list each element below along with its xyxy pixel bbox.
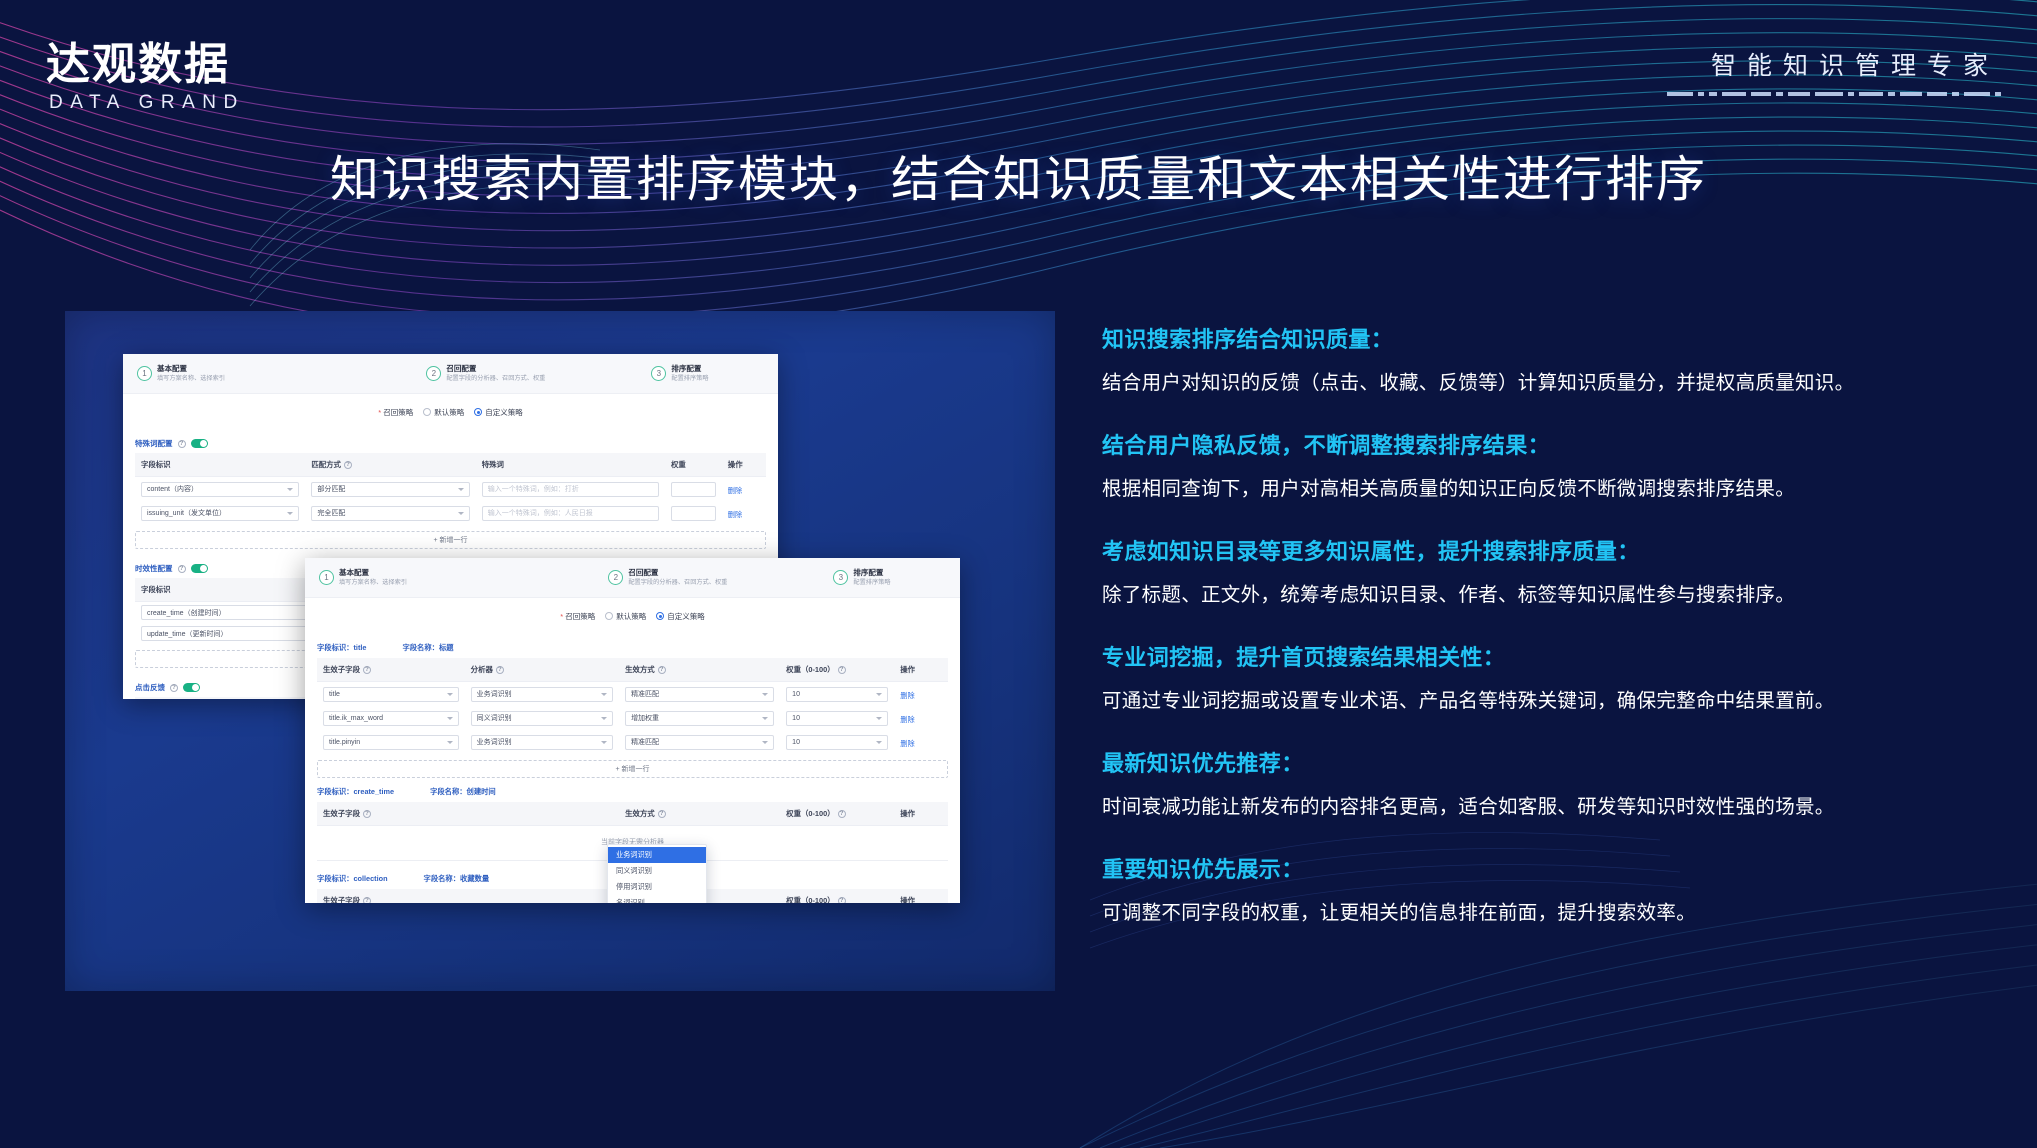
table-header-row: 字段标识 匹配方式? 特殊词 权重 操作 (135, 453, 766, 477)
delete-row-link[interactable]: 删除 (900, 739, 914, 748)
col-effect-mode: 生效方式? (619, 802, 780, 826)
match-mode-select[interactable]: 部分匹配 (311, 482, 469, 497)
delete-row-link[interactable]: 删除 (728, 510, 742, 519)
recall-strategy-row: *召回策略 默认策略 自定义策略 (305, 598, 960, 634)
bullet-body: 结合用户对知识的反馈（点击、收藏、反馈等）计算知识质量分，并提权高质量知识。 (1102, 366, 1982, 395)
step-number-icon: 3 (833, 570, 848, 585)
step-number-icon: 3 (651, 366, 666, 381)
step-subtitle: 配置排序策略 (853, 579, 890, 587)
bullet-title: 考虑如知识目录等更多知识属性，提升搜索排序质量： (1102, 534, 1982, 566)
col-match-mode: 匹配方式? (305, 453, 475, 477)
col-special-word: 特殊词 (476, 453, 665, 477)
front-screenshot-panel: 1 基本配置 填写方案名称、选择索引 2 召回配置 配置字段的分析器、召回方式、… (305, 558, 960, 903)
analyzer-table-title: 生效子字段? 分析器? 生效方式? 权重（0-100）? 操作 title 业务… (317, 658, 948, 754)
dropdown-option[interactable]: 停用词识别 (608, 879, 706, 895)
step-title: 排序配置 (853, 568, 890, 577)
front-steps-bar: 1 基本配置 填写方案名称、选择索引 2 召回配置 配置字段的分析器、召回方式、… (305, 558, 960, 598)
step-item-2[interactable]: 2 召回配置 配置字段的分析器、召回方式、权重 (418, 364, 643, 382)
col-weight: 权重 (665, 453, 722, 477)
col-effect-mode: 生效方式? (619, 658, 780, 682)
help-icon[interactable]: ? (363, 897, 371, 904)
help-icon[interactable]: ? (658, 810, 666, 818)
help-icon[interactable]: ? (838, 810, 846, 818)
section-title: 特殊词配置 (135, 438, 173, 449)
step-subtitle: 配置字段的分析器、召回方式、权重 (446, 375, 545, 383)
table-row: content（内容） 部分匹配 输入一个特殊词，例如：打折 删除 (135, 477, 766, 502)
step-title: 召回配置 (446, 364, 545, 373)
field-name-label: 字段名称： (424, 874, 460, 883)
weight-input[interactable] (671, 482, 716, 497)
step-title: 排序配置 (671, 364, 708, 373)
special-word-input[interactable]: 输入一个特殊词，例如：人民日报 (482, 506, 659, 521)
logo-chinese-name: 达观数据 (46, 42, 245, 88)
bullet-body: 除了标题、正文外，统筹考虑知识目录、作者、标签等知识属性参与搜索排序。 (1102, 578, 1982, 607)
special-word-table: 字段标识 匹配方式? 特殊词 权重 操作 content（内容） 部分匹配 输入… (135, 453, 766, 525)
field-id-label: 字段标识： (317, 874, 353, 883)
field-name-value: 标题 (439, 643, 454, 652)
analyzer-dropdown-menu[interactable]: 业务词识别 同义词识别 停用词识别 名词识别 人名识别 人称号识别 文号识别 范… (607, 844, 707, 903)
step-subtitle: 配置字段的分析器、召回方式、权重 (628, 579, 727, 587)
slogan-underline-decoration (1667, 92, 2001, 97)
help-icon[interactable]: ? (344, 461, 352, 469)
table-row: title.ik_max_word 同义词识别 增加权重 10 删除 (317, 706, 948, 730)
weight-input[interactable] (671, 506, 716, 521)
step-title: 召回配置 (628, 568, 727, 577)
subfield-select[interactable]: title.pinyin (323, 735, 459, 750)
help-icon[interactable]: ? (178, 565, 186, 573)
field-id-value: title (353, 643, 366, 652)
dropdown-option[interactable]: 名词识别 (608, 895, 706, 903)
subfield-select[interactable]: title.ik_max_word (323, 711, 459, 726)
analyzer-select[interactable]: 业务词识别 (471, 687, 613, 702)
special-word-section-header: 特殊词配置 ? (123, 430, 778, 453)
screenshot-stage: 1 基本配置 填写方案名称、选择索引 2 召回配置 配置字段的分析器、召回方式、… (65, 311, 1055, 991)
table-row: title 业务词识别 精准匹配 10 删除 (317, 682, 948, 707)
bullet-block: 专业词挖掘，提升首页搜索结果相关性： 可通过专业词挖掘或设置专业术语、产品名等特… (1102, 640, 1982, 713)
recall-strategy-row: *召回策略 默认策略 自定义策略 (123, 394, 778, 430)
col-weight: 权重（0-100）? (780, 802, 894, 826)
help-icon[interactable]: ? (170, 684, 178, 692)
dropdown-option[interactable]: 同义词识别 (608, 863, 706, 879)
step-number-icon: 2 (608, 570, 623, 585)
radio-label: 默认策略 (616, 611, 646, 622)
radio-icon-selected (474, 408, 482, 416)
bullet-title: 知识搜索排序结合知识质量： (1102, 322, 1982, 354)
step-number-icon: 1 (137, 366, 152, 381)
step-item-1[interactable]: 1 基本配置 填写方案名称、选择索引 (129, 364, 418, 382)
delete-row-link[interactable]: 删除 (728, 486, 742, 495)
step-subtitle: 配置排序策略 (671, 375, 708, 383)
logo-english-name: DATA GRAND (46, 92, 245, 114)
field-id-label: 字段标识： (317, 643, 353, 652)
recall-strategy-label: *召回策略 (378, 407, 413, 418)
col-analyzer (465, 802, 619, 826)
table-header-row: 生效子字段? 分析器? 生效方式? 权重（0-100）? 操作 (317, 658, 948, 682)
effect-mode-select[interactable]: 精准匹配 (625, 687, 774, 702)
radio-icon (423, 408, 431, 416)
col-analyzer (465, 889, 619, 903)
bullet-block: 最新知识优先推荐： 时间衰减功能让新发布的内容排名更高，适合如客服、研发等知识时… (1102, 746, 1982, 819)
field-name-label: 字段名称： (430, 787, 466, 796)
col-subfield: 生效子字段? (317, 658, 465, 682)
step-item-3[interactable]: 3 排序配置 配置排序策略 (643, 364, 772, 382)
step-subtitle: 填写方案名称、选择索引 (157, 375, 225, 383)
field-id-value: create_time (353, 787, 394, 796)
field-name-value: 收藏数量 (460, 874, 489, 883)
analyzer-table-create-time: 生效子字段? 生效方式? 权重（0-100）? 操作 (317, 802, 948, 826)
back-steps-bar: 1 基本配置 填写方案名称、选择索引 2 召回配置 配置字段的分析器、召回方式、… (123, 354, 778, 394)
field-group-header-create-time: 字段标识：create_time 字段名称：创建时间 (305, 778, 960, 802)
step-item-1[interactable]: 1 基本配置 填写方案名称、选择索引 (311, 568, 600, 586)
brand-logo: 达观数据 DATA GRAND (46, 42, 245, 114)
add-row-button[interactable]: + 新增一行 (317, 760, 948, 778)
radio-custom-strategy[interactable]: 自定义策略 (474, 407, 523, 418)
field-id-value: collection (353, 874, 387, 883)
recall-strategy-label: *召回策略 (560, 611, 595, 622)
help-icon[interactable]: ? (363, 810, 371, 818)
effect-mode-select[interactable]: 精准匹配 (625, 735, 774, 750)
radio-default-strategy[interactable]: 默认策略 (423, 407, 464, 418)
table-header-row: 生效子字段? 生效方式? 权重（0-100）? 操作 (317, 802, 948, 826)
step-item-3[interactable]: 3 排序配置 配置排序策略 (825, 568, 954, 586)
special-word-input[interactable]: 输入一个特殊词，例如：打折 (482, 482, 659, 497)
help-icon[interactable]: ? (838, 897, 846, 904)
weight-select[interactable]: 10 (786, 687, 888, 702)
delete-row-link[interactable]: 删除 (900, 691, 914, 700)
radio-icon-selected (656, 612, 664, 620)
section-title: 时效性配置 (135, 563, 173, 574)
help-icon[interactable]: ? (658, 666, 666, 674)
radio-label: 自定义策略 (485, 407, 523, 418)
col-weight: 权重（0-100）? (780, 658, 894, 682)
col-weight: 权重（0-100）? (780, 889, 894, 903)
field-name-value: 创建时间 (467, 787, 496, 796)
section-title: 点击反馈 (135, 682, 165, 693)
dropdown-option[interactable]: 业务词识别 (608, 847, 706, 863)
field-name-label: 字段名称： (402, 643, 438, 652)
radio-icon (605, 612, 613, 620)
field-id-select[interactable]: create_time（创建时间） (141, 605, 331, 620)
section-toggle-switch[interactable] (183, 683, 200, 692)
bullet-body: 时间衰减功能让新发布的内容排名更高，适合如客服、研发等知识时效性强的场景。 (1102, 790, 1982, 819)
field-group-header-title: 字段标识：title 字段名称：标题 (305, 634, 960, 658)
col-analyzer: 分析器? (465, 658, 619, 682)
feature-bullet-list: 知识搜索排序结合知识质量： 结合用户对知识的反馈（点击、收藏、反馈等）计算知识质… (1102, 322, 1982, 958)
section-toggle-switch[interactable] (191, 564, 208, 573)
col-subfield: 生效子字段? (317, 889, 465, 903)
col-action: 操作 (894, 802, 948, 826)
step-title: 基本配置 (157, 364, 225, 373)
bullet-body: 可调整不同字段的权重，让更相关的信息排在前面，提升搜索效率。 (1102, 896, 1982, 925)
required-asterisk: * (560, 612, 563, 621)
weight-select[interactable]: 10 (786, 711, 888, 726)
col-subfield: 生效子字段? (317, 802, 465, 826)
bullet-block: 重要知识优先展示： 可调整不同字段的权重，让更相关的信息排在前面，提升搜索效率。 (1102, 852, 1982, 925)
radio-custom-strategy[interactable]: 自定义策略 (656, 611, 705, 622)
analyzer-select[interactable]: 业务词识别 (471, 735, 613, 750)
col-action: 操作 (894, 658, 948, 682)
step-title: 基本配置 (339, 568, 407, 577)
help-icon[interactable]: ? (838, 666, 846, 674)
help-icon[interactable]: ? (363, 666, 371, 674)
bullet-title: 最新知识优先推荐： (1102, 746, 1982, 778)
bullet-title: 结合用户隐私反馈，不断调整搜索排序结果： (1102, 428, 1982, 460)
bullet-body: 根据相同查询下，用户对高相关高质量的知识正向反馈不断微调搜索排序结果。 (1102, 472, 1982, 501)
col-action: 操作 (722, 453, 766, 477)
slogan-text: 智能知识管理专家 (1667, 46, 2001, 82)
table-row: issuing_unit（发文单位） 完全匹配 输入一个特殊词，例如：人民日报 … (135, 501, 766, 525)
required-asterisk: * (378, 408, 381, 417)
col-field-id: 字段标识 (135, 453, 305, 477)
help-icon[interactable]: ? (496, 666, 504, 674)
weight-select[interactable]: 10 (786, 735, 888, 750)
field-id-select[interactable]: content（内容） (141, 482, 299, 497)
add-row-button[interactable]: + 新增一行 (135, 531, 766, 549)
section-toggle-switch[interactable] (191, 439, 208, 448)
bullet-block: 结合用户隐私反馈，不断调整搜索排序结果： 根据相同查询下，用户对高相关高质量的知… (1102, 428, 1982, 501)
match-mode-select[interactable]: 完全匹配 (311, 506, 469, 521)
step-number-icon: 1 (319, 570, 334, 585)
step-number-icon: 2 (426, 366, 441, 381)
bullet-block: 知识搜索排序结合知识质量： 结合用户对知识的反馈（点击、收藏、反馈等）计算知识质… (1102, 322, 1982, 395)
field-id-select[interactable]: issuing_unit（发文单位） (141, 506, 299, 521)
bullet-title: 专业词挖掘，提升首页搜索结果相关性： (1102, 640, 1982, 672)
field-id-select[interactable]: update_time（更新时间） (141, 626, 331, 641)
analyzer-select[interactable]: 同义词识别 (471, 711, 613, 726)
radio-label: 默认策略 (434, 407, 464, 418)
effect-mode-select[interactable]: 增加权重 (625, 711, 774, 726)
bullet-block: 考虑如知识目录等更多知识属性，提升搜索排序质量： 除了标题、正文外，统筹考虑知识… (1102, 534, 1982, 607)
bullet-title: 重要知识优先展示： (1102, 852, 1982, 884)
table-row: title.pinyin 业务词识别 精准匹配 10 删除 (317, 730, 948, 754)
field-id-label: 字段标识： (317, 787, 353, 796)
step-item-2[interactable]: 2 召回配置 配置字段的分析器、召回方式、权重 (600, 568, 825, 586)
delete-row-link[interactable]: 删除 (900, 715, 914, 724)
subfield-select[interactable]: title (323, 687, 459, 702)
page-title: 知识搜索内置排序模块，结合知识质量和文本相关性进行排序 (0, 140, 2037, 211)
radio-label: 自定义策略 (667, 611, 705, 622)
help-icon[interactable]: ? (178, 440, 186, 448)
bullet-body: 可通过专业词挖掘或设置专业术语、产品名等特殊关键词，确保完整命中结果置前。 (1102, 684, 1982, 713)
radio-default-strategy[interactable]: 默认策略 (605, 611, 646, 622)
col-action: 操作 (894, 889, 948, 903)
slogan-block: 智能知识管理专家 (1667, 46, 2001, 97)
step-subtitle: 填写方案名称、选择索引 (339, 579, 407, 587)
